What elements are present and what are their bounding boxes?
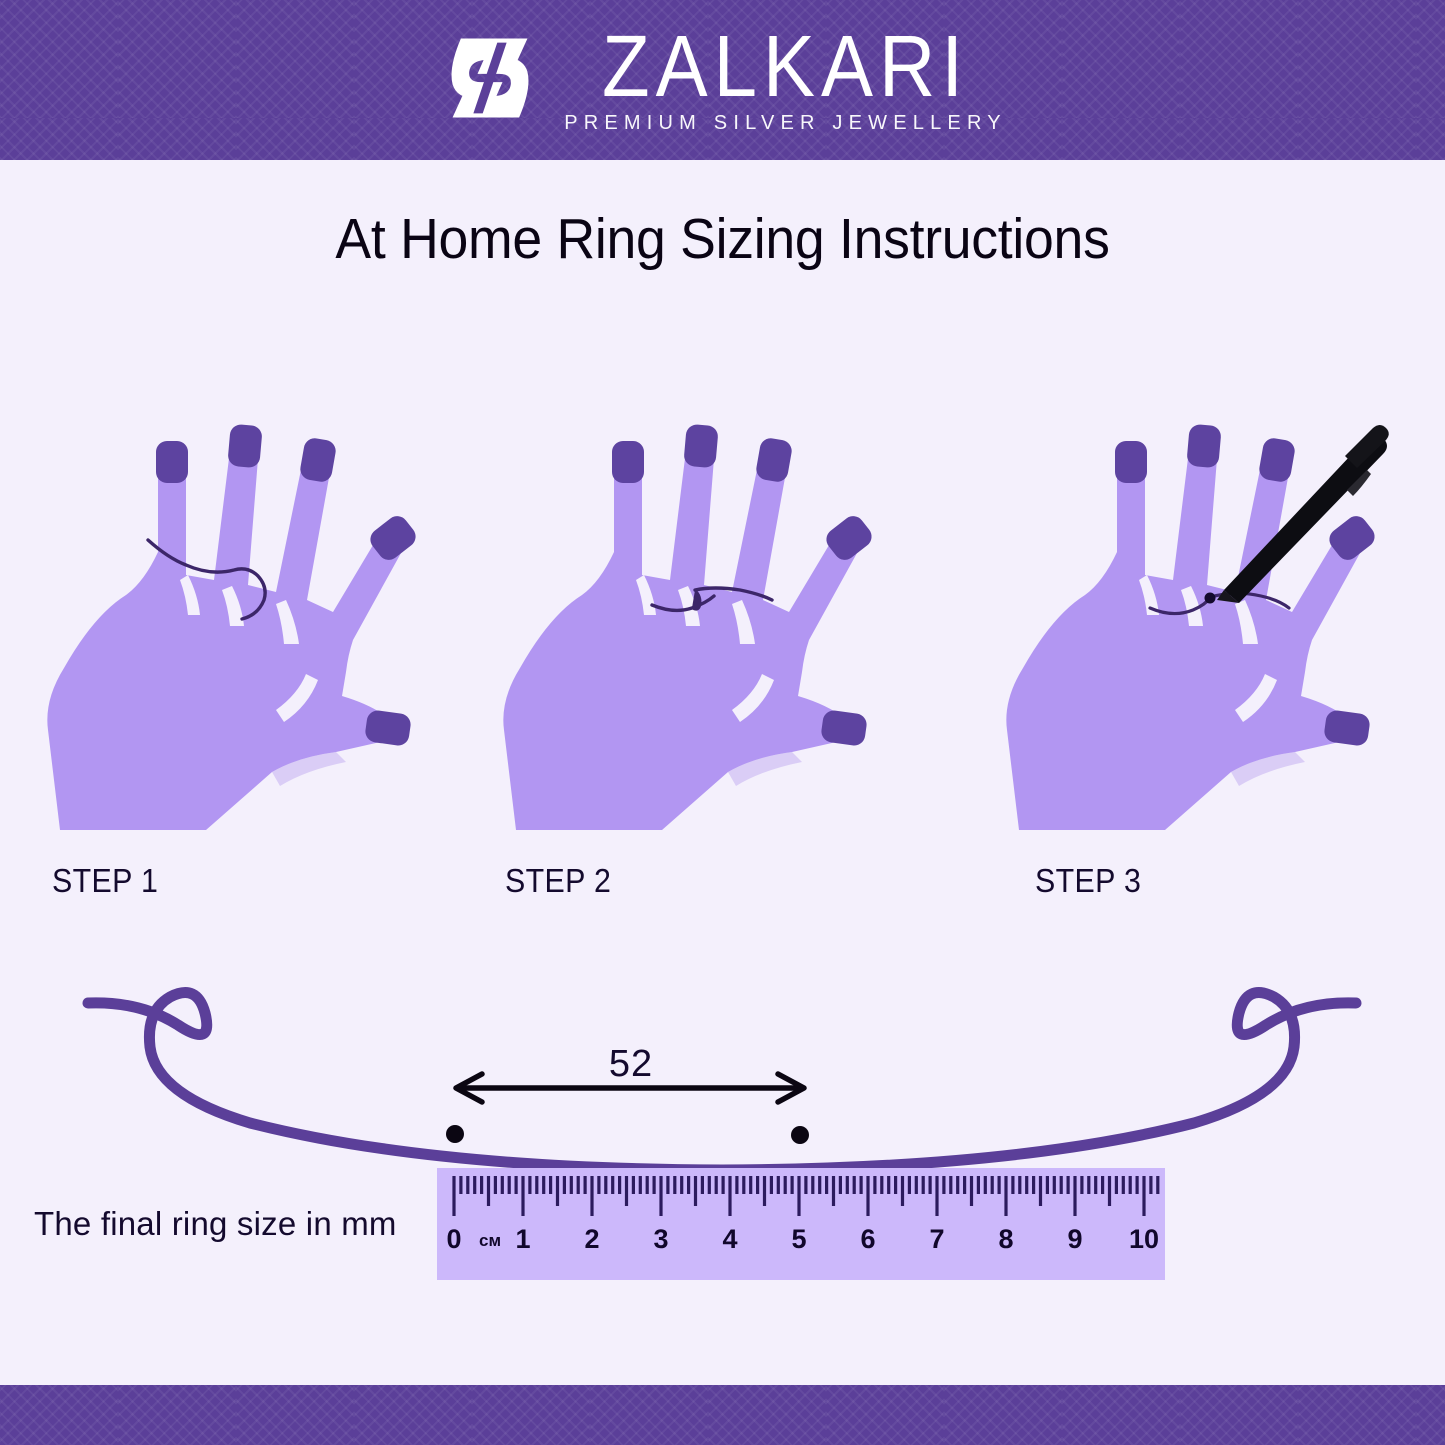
measurement-arrow-icon [440,1068,820,1108]
string-measurement-diagram [0,955,1445,1175]
hand-with-pen-marking-icon [995,400,1425,850]
ruler: 0 см 1 2 3 4 5 6 7 8 9 10 [437,1168,1165,1280]
final-size-label: The final ring size in mm [34,1205,397,1243]
step-illustration-3 [995,400,1425,930]
ruler-unit-label: см [479,1231,501,1251]
brand-footer-bar [0,1385,1445,1445]
step-illustration-2 [492,400,922,930]
hand-with-tied-string-icon [492,400,922,850]
ruler-label-9: 9 [1067,1224,1082,1255]
ruler-label-7: 7 [929,1224,944,1255]
brand-tagline: PREMIUM SILVER JEWELLERY [564,112,1007,135]
brand-name: ZALKARI [602,23,969,109]
brand-logo: ZALKARI PREMIUM SILVER JEWELLERY [0,0,1445,160]
brand-header-bar: ZALKARI PREMIUM SILVER JEWELLERY [0,0,1445,160]
string-marker-end [791,1126,809,1144]
ruler-label-0: 0 [446,1224,461,1255]
ruler-label-3: 3 [653,1224,668,1255]
ruler-label-6: 6 [860,1224,875,1255]
ruler-label-2: 2 [584,1224,599,1255]
zalkari-z-monogram-icon [438,26,542,130]
string-mark-point [1205,593,1216,604]
ruler-label-8: 8 [998,1224,1013,1255]
hand-with-loose-string-icon [36,400,466,850]
pen-icon [1217,425,1389,603]
step-illustration-1 [36,400,466,930]
step-label-3: STEP 3 [1035,862,1141,900]
measuring-string-icon [0,955,1445,1175]
step-label-1: STEP 1 [52,862,158,900]
ruler-label-5: 5 [791,1224,806,1255]
page-title: At Home Ring Sizing Instructions [43,206,1401,272]
ruler-label-4: 4 [722,1224,737,1255]
ruler-label-1: 1 [515,1224,530,1255]
step-label-2: STEP 2 [505,862,611,900]
ruler-label-10: 10 [1129,1224,1159,1255]
string-marker-start [446,1125,464,1143]
